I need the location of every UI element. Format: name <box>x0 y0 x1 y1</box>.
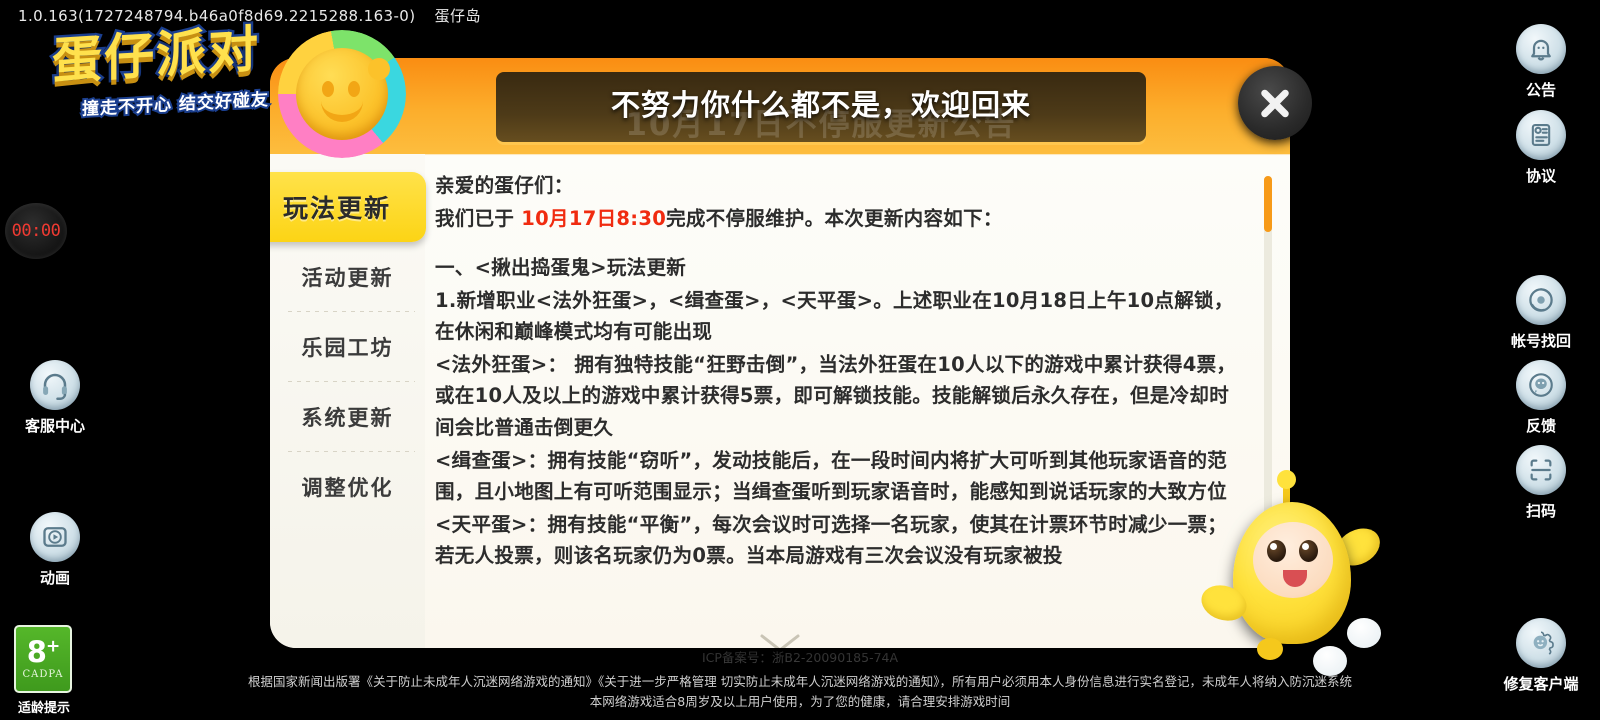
intro-before: 我们已于 <box>435 207 521 230</box>
bell-icon <box>1516 24 1566 74</box>
document-icon <box>1516 110 1566 160</box>
rail-item-customer-service[interactable]: 客服中心 <box>0 360 110 436</box>
rail-item-label: 帐号找回 <box>1486 330 1596 351</box>
repair-client-icon <box>1516 618 1566 668</box>
dialog-title-banner: 10月17日不停服更新公告 不努力你什么都不是，欢迎回来 <box>496 72 1146 142</box>
age-rating-age: 8 <box>27 635 46 669</box>
close-icon[interactable] <box>1238 66 1312 140</box>
rail-item-animation[interactable]: 动画 <box>0 512 110 588</box>
rail-item-feedback[interactable]: 反馈 <box>1486 360 1596 436</box>
tab-label: 系统更新 <box>302 402 394 432</box>
rail-item-label: 公告 <box>1486 79 1596 100</box>
tab-label: 玩法更新 <box>283 189 391 225</box>
emblem-nub <box>368 58 390 80</box>
tab-label: 活动更新 <box>302 262 394 292</box>
mascot-eye-left <box>1267 540 1286 562</box>
announcement-item-4: <天平蛋>：拥有技能“平衡”，每次会议时可选择一名玩家，使其在计票环节时减少一票… <box>435 509 1246 572</box>
announcement-greeting: 亲爱的蛋仔们： <box>435 170 1246 202</box>
session-timer: 00:00 <box>5 203 67 259</box>
rail-item-announcement[interactable]: 公告 <box>1486 24 1596 100</box>
dialog-content: 亲爱的蛋仔们： 我们已于 10月17日8:30完成不停服维护。本次更新内容如下：… <box>425 154 1290 648</box>
dialog-tab-list: 玩法更新 活动更新 乐园工坊 系统更新 调整优化 <box>270 154 425 648</box>
intro-after: 完成不停服维护。本次更新内容如下： <box>666 207 1003 230</box>
announcement-text[interactable]: 亲爱的蛋仔们： 我们已于 10月17日8:30完成不停服维护。本次更新内容如下：… <box>435 170 1246 648</box>
dialog-body: 玩法更新 活动更新 乐园工坊 系统更新 调整优化 亲爱的蛋仔们： <box>270 154 1290 648</box>
mascot-foot <box>1257 638 1283 660</box>
announcement-intro: 我们已于 10月17日8:30完成不停服维护。本次更新内容如下： <box>435 203 1246 235</box>
announcement-item-3: <缉查蛋>：拥有技能“窃听”，发动技能后，在一段时间内将扩大可听到其他玩家语音的… <box>435 445 1246 508</box>
announcement-section-1: 一、<揪出捣蛋鬼>玩法更新 <box>435 252 1246 284</box>
announcement-item-2: <法外狂蛋>： 拥有独特技能“狂野击倒”，当法外狂蛋在10人以下的游戏中累计获得… <box>435 349 1246 444</box>
game-logo-title: 蛋仔派对 <box>52 20 302 88</box>
session-timer-value: 00:00 <box>12 221 61 241</box>
intro-highlight-date: 10月17日8:30 <box>521 207 666 230</box>
game-logo-tagline: 撞走不开心 结交好碰友 <box>82 83 302 120</box>
mascot-eye-right <box>1299 540 1318 562</box>
tab-park-workshop[interactable]: 乐园工坊 <box>270 312 425 382</box>
legal-footer: 根据国家新闻出版署《关于防止未成年人沉迷网络游戏的通知》《关于进一步严格管理 切… <box>0 672 1600 712</box>
mascot-hand-left <box>1347 618 1381 648</box>
rail-item-label: 反馈 <box>1486 415 1596 436</box>
tab-system-update[interactable]: 系统更新 <box>270 382 425 452</box>
announcement-dialog: 10月17日不停服更新公告 不努力你什么都不是，欢迎回来 玩法更新 活动更新 乐… <box>270 58 1290 648</box>
content-scrollbar-thumb[interactable] <box>1264 176 1272 232</box>
legal-line-2: 本网络游戏适合8周岁及以上用户使用，为了您的健康，请合理安排游戏时间 <box>0 692 1600 712</box>
feedback-icon <box>1516 360 1566 410</box>
age-rating-plus: + <box>46 636 59 656</box>
version-build: 1.0.163(1727248794.b46a0f8d69.2215288.16… <box>18 7 415 25</box>
version-game-name: 蛋仔岛 <box>435 7 481 25</box>
dialog-shell: 10月17日不停服更新公告 不努力你什么都不是，欢迎回来 玩法更新 活动更新 乐… <box>270 58 1290 648</box>
rail-item-account-recovery[interactable]: 帐号找回 <box>1486 275 1596 351</box>
rail-item-label: 动画 <box>0 567 110 588</box>
tab-gameplay-update[interactable]: 玩法更新 <box>270 172 426 242</box>
tab-label: 调整优化 <box>302 472 394 502</box>
rail-item-scan-qr[interactable]: 扫码 <box>1486 445 1596 521</box>
tab-event-update[interactable]: 活动更新 <box>270 242 425 312</box>
game-logo: 蛋仔派对 撞走不开心 结交好碰友 <box>52 28 302 143</box>
play-video-icon <box>30 512 80 562</box>
tab-adjust-optimize[interactable]: 调整优化 <box>270 452 425 522</box>
account-recovery-icon <box>1516 275 1566 325</box>
scroll-down-chevron[interactable] <box>758 632 802 648</box>
version-bar: 1.0.163(1727248794.b46a0f8d69.2215288.16… <box>18 5 481 26</box>
announcement-item-1: 1.新增职业<法外狂蛋>，<缉查蛋>，<天平蛋>。上述职业在10月18日上午10… <box>435 285 1246 348</box>
rail-item-label: 扫码 <box>1486 500 1596 521</box>
emblem-mouth <box>321 100 363 122</box>
dialog-title-overlay: 不努力你什么都不是，欢迎回来 <box>496 82 1146 124</box>
emblem-eye-right <box>348 81 360 97</box>
emblem-face <box>296 48 388 140</box>
qr-scan-icon <box>1516 445 1566 495</box>
text-spacer <box>435 235 1246 251</box>
emblem-eye-left <box>322 81 334 97</box>
legal-line-1: 根据国家新闻出版署《关于防止未成年人沉迷网络游戏的通知》《关于进一步严格管理 切… <box>0 672 1600 692</box>
rail-item-agreement[interactable]: 协议 <box>1486 110 1596 186</box>
right-rail: 公告 协议 帐号找回 <box>1480 0 1600 720</box>
tab-label: 乐园工坊 <box>302 332 394 362</box>
age-rating-number: 8+ <box>27 638 59 667</box>
rail-item-label: 协议 <box>1486 165 1596 186</box>
mascot-character <box>1195 478 1395 678</box>
headset-support-icon <box>30 360 80 410</box>
rail-item-label: 客服中心 <box>0 415 110 436</box>
